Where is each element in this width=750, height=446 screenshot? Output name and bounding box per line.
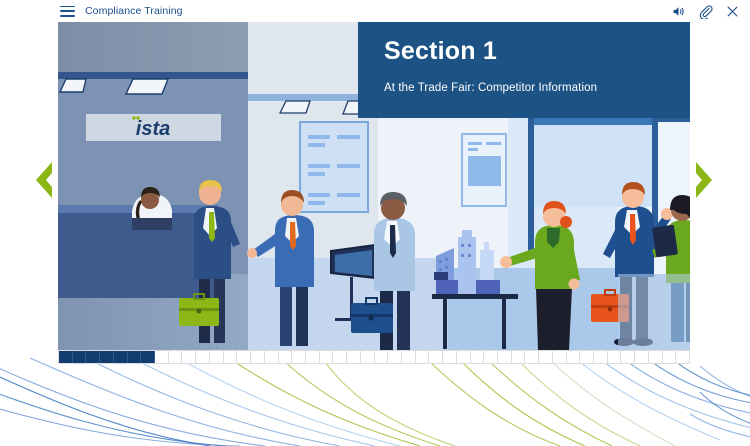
progress-segment[interactable] — [347, 351, 361, 363]
progress-segment[interactable] — [594, 351, 608, 363]
progress-segment[interactable] — [279, 351, 293, 363]
chevron-left-icon[interactable] — [30, 160, 58, 200]
progress-segment[interactable] — [73, 351, 87, 363]
section-subtitle: At the Trade Fair: Competitor Informatio… — [384, 82, 690, 94]
progress-segment[interactable] — [553, 351, 567, 363]
progress-segment[interactable] — [169, 351, 183, 363]
progress-segment[interactable] — [676, 351, 689, 363]
app-header: Compliance Training — [0, 0, 750, 22]
slide-stage[interactable]: ista — [58, 22, 690, 354]
progress-segment[interactable] — [100, 351, 114, 363]
progress-segment[interactable] — [608, 351, 622, 363]
wall-poster-right — [462, 134, 506, 206]
progress-segment[interactable] — [375, 351, 389, 363]
progress-segment[interactable] — [471, 351, 485, 363]
progress-segment[interactable] — [155, 351, 169, 363]
progress-segment[interactable] — [86, 351, 100, 363]
progress-segment[interactable] — [567, 351, 581, 363]
attachment-icon[interactable] — [698, 4, 713, 19]
progress-segment[interactable] — [128, 351, 142, 363]
header-tools — [671, 4, 740, 19]
booth-logo-text: ista — [136, 118, 170, 140]
progress-segment[interactable] — [416, 351, 430, 363]
slide-title-panel: Section 1 At the Trade Fair: Competitor … — [358, 22, 690, 118]
progress-segment[interactable] — [580, 351, 594, 363]
page-title: Compliance Training — [85, 5, 183, 17]
progress-segment[interactable] — [251, 351, 265, 363]
progress-segment[interactable] — [663, 351, 677, 363]
progress-segment[interactable] — [333, 351, 347, 363]
progress-segment[interactable] — [210, 351, 224, 363]
hamburger-icon[interactable] — [60, 6, 75, 17]
progress-segment[interactable] — [237, 351, 251, 363]
wall-poster-left — [300, 122, 368, 212]
progress-segment[interactable] — [388, 351, 402, 363]
progress-segment[interactable] — [224, 351, 238, 363]
section-title: Section 1 — [384, 36, 690, 66]
progress-segment[interactable] — [361, 351, 375, 363]
progress-segment[interactable] — [512, 351, 526, 363]
progress-segment[interactable] — [141, 351, 155, 363]
progress-segment[interactable] — [292, 351, 306, 363]
progress-segment[interactable] — [539, 351, 553, 363]
chevron-right-icon[interactable] — [690, 160, 718, 200]
progress-segment[interactable] — [484, 351, 498, 363]
progress-segment[interactable] — [320, 351, 334, 363]
progress-segment[interactable] — [443, 351, 457, 363]
volume-icon[interactable] — [671, 4, 686, 19]
progress-segment[interactable] — [498, 351, 512, 363]
progress-segment[interactable] — [429, 351, 443, 363]
progress-segment[interactable] — [59, 351, 73, 363]
progress-segment[interactable] — [402, 351, 416, 363]
progress-segment[interactable] — [182, 351, 196, 363]
progress-segment[interactable] — [457, 351, 471, 363]
progress-segment[interactable] — [265, 351, 279, 363]
close-icon[interactable] — [725, 4, 740, 19]
progress-segment[interactable] — [621, 351, 635, 363]
progress-segment[interactable] — [525, 351, 539, 363]
progress-segment[interactable] — [114, 351, 128, 363]
progress-segment[interactable] — [306, 351, 320, 363]
progress-segment[interactable] — [196, 351, 210, 363]
progress-bar[interactable] — [58, 350, 690, 364]
progress-segment[interactable] — [635, 351, 649, 363]
progress-segment[interactable] — [649, 351, 663, 363]
